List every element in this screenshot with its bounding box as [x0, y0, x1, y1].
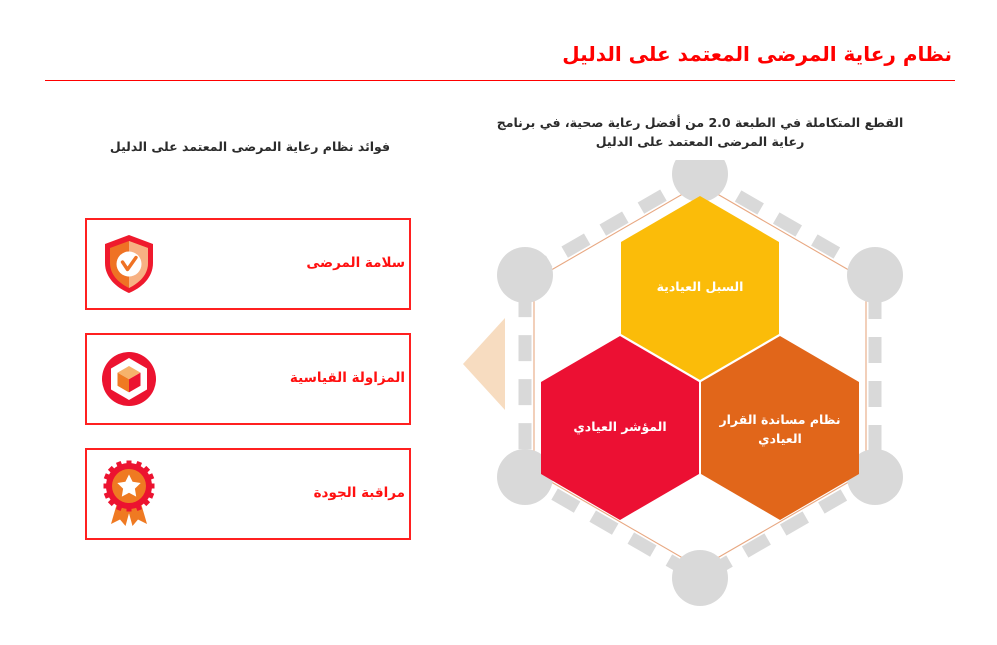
benefit-item-standard-practice[interactable]: المزاولة القياسية [85, 333, 411, 425]
page-title: نظام رعاية المرضى المعتمد على الدليل [312, 42, 952, 67]
vertex-node-bottom [672, 550, 728, 606]
hex-label-decision-support-line-2: العيادي [758, 431, 802, 446]
diagram-subtitle: القطع المتكاملة في الطبعة 2.0 من أفضل رع… [490, 114, 910, 152]
benefit-item-quality-control[interactable]: مراقبة الجودة [85, 448, 411, 540]
hexagon-cube-icon [87, 337, 171, 421]
benefit-label: المزاولة القياسية [171, 370, 409, 388]
diagram-subtitle-line-1: القطع المتكاملة في الطبعة 2.0 من أفضل رع… [490, 114, 910, 133]
hexagon-diagram: السبل العيادية المؤشر العيادي نظام مساند… [488, 160, 928, 610]
hex-label-decision-support-line-1: نظام مساندة القرار [718, 412, 840, 428]
vertex-node-top-left [497, 247, 553, 303]
diagram-subtitle-line-2: رعاية المرضى المعتمد على الدليل [490, 133, 910, 152]
benefit-label: مراقبة الجودة [171, 485, 409, 503]
benefits-heading: فوائد نظام رعاية المرضى المعتمد على الدل… [60, 138, 440, 156]
hex-label-clinical-pathways: السبل العيادية [657, 279, 744, 294]
shield-check-icon [87, 222, 171, 306]
title-divider [45, 80, 955, 81]
benefits-list: سلامة المرضى المزاولة القياسية [85, 218, 411, 563]
award-ribbon-icon [87, 452, 171, 536]
benefit-item-patient-safety[interactable]: سلامة المرضى [85, 218, 411, 310]
vertex-node-top-right [847, 247, 903, 303]
hex-label-clinical-indicator: المؤشر العيادي [573, 419, 666, 434]
benefit-label: سلامة المرضى [171, 255, 409, 273]
